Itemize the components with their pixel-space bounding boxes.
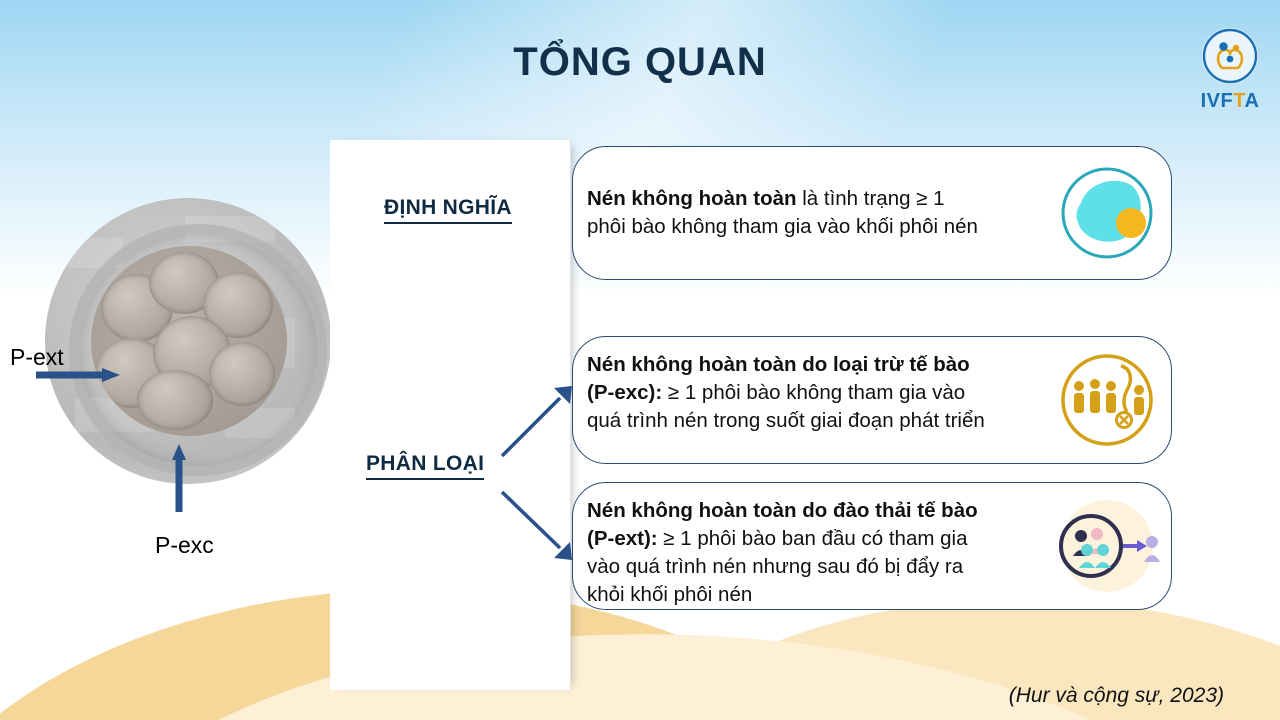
card1-line1-bold: Nén không hoàn toàn bbox=[587, 187, 797, 210]
card3-line2-bold: (P-ext): bbox=[587, 527, 658, 550]
cell-exclusion-group-icon bbox=[1053, 346, 1161, 454]
family-mother-child-icon bbox=[1202, 28, 1258, 84]
card1-line2-rest: phôi bào không tham gia vào khối phôi né… bbox=[587, 215, 978, 238]
card2-line2-bold: (P-exc): bbox=[587, 381, 662, 404]
card2-line2-rest: ≥ 1 phôi bào không tham gia vào bbox=[662, 381, 965, 404]
micrograph-disc bbox=[45, 198, 331, 484]
logo-text-a: A bbox=[1244, 90, 1259, 112]
arrow-p-exc bbox=[172, 444, 186, 512]
arrow-p-ext bbox=[36, 368, 120, 382]
card3-line3-rest: vào quá trình nén nhưng sau đó bị đẩy ra bbox=[587, 555, 963, 578]
citation: (Hur và cộng sự, 2023) bbox=[1009, 684, 1224, 708]
logo: IVFTA bbox=[1182, 28, 1278, 113]
card-p-exc: Nén không hoàn toàn do loại trừ tế bào (… bbox=[572, 336, 1172, 464]
card2-line1-bold: Nén không hoàn toàn do loại trừ tế bào bbox=[587, 353, 970, 376]
label-p-ext: P-ext bbox=[10, 344, 64, 371]
page-title: TỔNG QUAN bbox=[0, 40, 1280, 85]
cell-extrusion-group-icon bbox=[1053, 492, 1161, 600]
card-definition-text: Nén không hoàn toàn là tình trạng ≥ 1 ph… bbox=[587, 185, 1045, 241]
card-p-exc-text: Nén không hoàn toàn do loại trừ tế bào (… bbox=[587, 351, 1045, 435]
card-definition: Nén không hoàn toàn là tình trạng ≥ 1 ph… bbox=[572, 146, 1172, 280]
heading-definition: ĐỊNH NGHĨA bbox=[384, 196, 512, 224]
slide-canvas: TỔNG QUAN IVFTA bbox=[0, 0, 1280, 720]
label-p-exc: P-exc bbox=[155, 532, 214, 559]
card2-line3-rest: quá trình nén trong suốt giai đoạn phát … bbox=[587, 409, 985, 432]
embryo-micrograph bbox=[45, 198, 345, 498]
logo-wordmark: IVFTA bbox=[1182, 90, 1278, 113]
card3-line2-rest: ≥ 1 phôi bào ban đầu có tham gia bbox=[658, 527, 968, 550]
heading-classification: PHÂN LOẠI bbox=[366, 452, 484, 480]
card3-line4-rest: khỏi khối phôi nén bbox=[587, 583, 752, 606]
embryo-single-cell-excluded-icon bbox=[1053, 159, 1161, 267]
card-p-ext-text: Nén không hoàn toàn do đào thải tế bào (… bbox=[587, 497, 1045, 609]
blastomere-mass bbox=[91, 246, 287, 436]
card-p-ext: Nén không hoàn toàn do đào thải tế bào (… bbox=[572, 482, 1172, 610]
card3-line1-bold: Nén không hoàn toàn do đào thải tế bào bbox=[587, 499, 978, 522]
logo-text-t: T bbox=[1233, 90, 1244, 112]
card1-line1-rest: là tình trạng ≥ 1 bbox=[797, 187, 945, 210]
logo-text-ivf: IVF bbox=[1201, 90, 1234, 112]
